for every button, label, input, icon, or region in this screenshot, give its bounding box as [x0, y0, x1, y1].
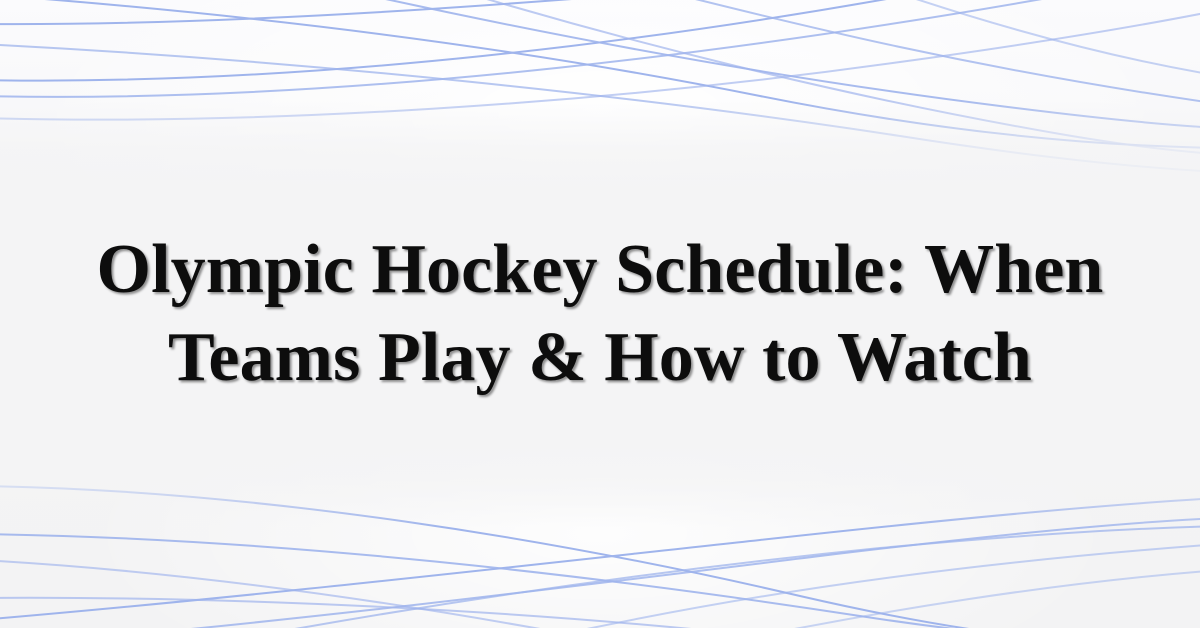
og-image-card: Olympic Hockey Schedule: When Teams Play…: [0, 0, 1200, 628]
page-title: Olympic Hockey Schedule: When Teams Play…: [78, 226, 1122, 402]
title-container: Olympic Hockey Schedule: When Teams Play…: [0, 0, 1200, 628]
